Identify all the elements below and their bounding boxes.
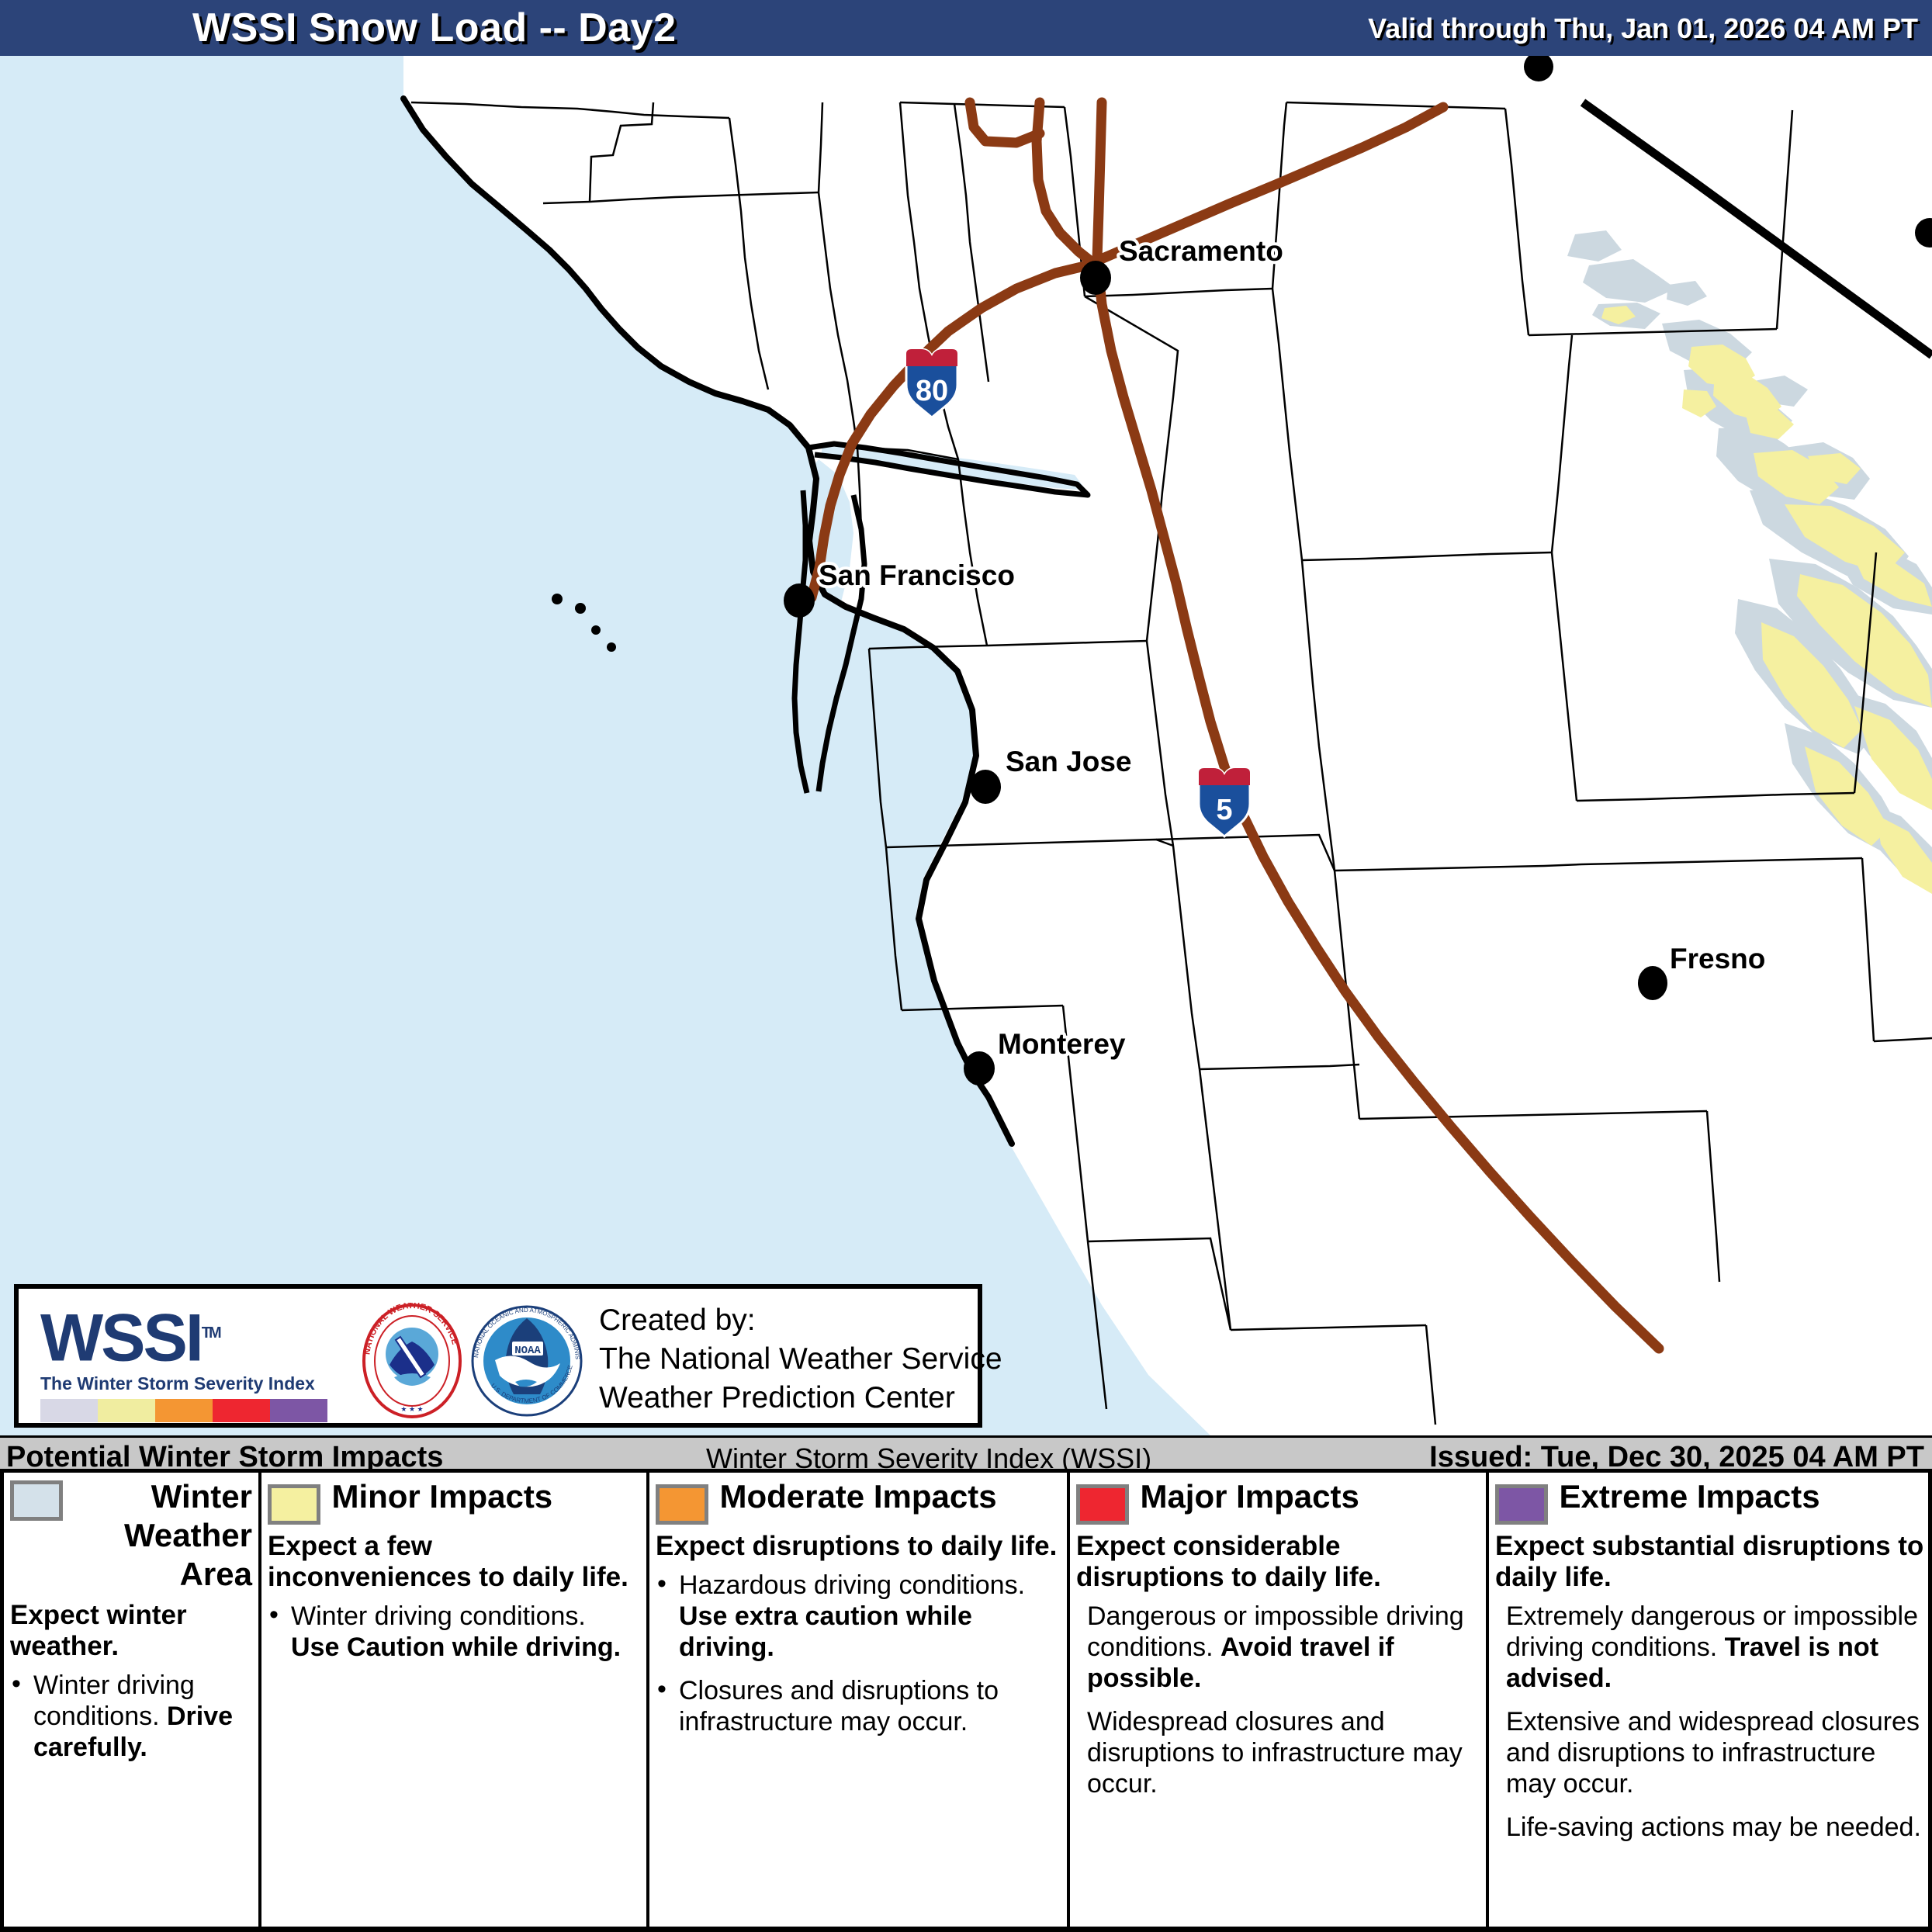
legend-swatch-extreme-impacts — [1495, 1484, 1548, 1525]
created-by-line-1: Created by: — [599, 1301, 1002, 1340]
bullet-plain: Winter driving conditions. — [291, 1601, 586, 1631]
legend-leadin-winter-weather-area: Expect winter weather. — [10, 1600, 252, 1662]
issued-timestamp: Issued: Tue, Dec 30, 2025 04 AM PT — [1429, 1441, 1924, 1474]
city-label-sacramento: Sacramento — [1119, 235, 1283, 267]
legend-column-moderate-impacts[interactable]: Moderate Impacts Expect disruptions to d… — [646, 1473, 1067, 1927]
legend-swatch-winter-weather-area — [10, 1480, 63, 1521]
bullet-plain: Closures and disruptions to infrastructu… — [679, 1676, 999, 1736]
list-item: •Extremely dangerous or impossible drivi… — [1495, 1601, 1930, 1694]
svg-text:5: 5 — [1216, 794, 1232, 826]
island-dot — [575, 603, 586, 614]
wssi-color-scale — [40, 1399, 327, 1422]
nws-seal-icon: ★ ★ ★ NATIONAL WEATHER SERVICE — [354, 1303, 470, 1419]
legend-swatch-moderate-impacts — [656, 1484, 708, 1525]
wssi-snow-load-map-page: WSSI Snow Load -- Day2 Valid through Thu… — [0, 0, 1932, 1932]
wssi-logo-box: WSSITM The Winter Storm Severity Index ★… — [14, 1284, 982, 1428]
legend-bullets-winter-weather-area: •Winter driving conditions. Drive carefu… — [10, 1670, 252, 1763]
scale-swatch-major — [213, 1399, 270, 1422]
bullet-plain: Hazardous driving conditions. — [679, 1570, 1025, 1600]
potential-impacts-label: Potential Winter Storm Impacts — [6, 1441, 443, 1474]
city-label-san-francisco: San Francisco — [819, 559, 1015, 591]
svg-text:80: 80 — [916, 375, 948, 407]
list-item: •Winter driving conditions. Drive carefu… — [10, 1670, 252, 1763]
created-by-block: Created by: The National Weather Service… — [599, 1301, 1002, 1418]
island-dot — [607, 642, 616, 652]
bullet-plain: Widespread closures and disruptions to i… — [1087, 1707, 1463, 1799]
scale-swatch-extreme — [270, 1399, 327, 1422]
city-label-san-jose: San Jose — [1006, 746, 1131, 777]
legend-column-winter-weather-area[interactable]: Winter Weather Area Expect winter weathe… — [4, 1473, 258, 1927]
legend-bullets-minor-impacts: •Winter driving conditions. Use Caution … — [268, 1601, 640, 1663]
wssi-subtitle: Winter Storm Severity Index (WSSI) — [706, 1442, 1151, 1475]
city-label-monterey: Monterey — [998, 1028, 1126, 1060]
created-by-line-3: Weather Prediction Center — [599, 1379, 1002, 1418]
list-item: •Life-saving actions may be needed. — [1495, 1812, 1930, 1843]
status-bar: Potential Winter Storm Impacts Winter St… — [0, 1435, 1932, 1473]
legend-leadin-moderate-impacts: Expect disruptions to daily life. — [656, 1531, 1061, 1562]
list-item: •Extensive and widespread closures and d… — [1495, 1706, 1930, 1799]
trademark-mark: TM — [202, 1324, 220, 1342]
legend-leadin-minor-impacts: Expect a few inconveniences to daily lif… — [268, 1531, 640, 1593]
legend-leadin-major-impacts: Expect considerable disruptions to daily… — [1076, 1531, 1480, 1593]
map-canvas[interactable]: Sacramento San Francisco San Jose Fresno… — [0, 56, 1932, 1435]
list-item: •Dangerous or impossible driving conditi… — [1076, 1601, 1480, 1694]
created-by-line-2: The National Weather Service — [599, 1340, 1002, 1379]
island-dot — [591, 625, 601, 635]
map-svg: Sacramento San Francisco San Jose Fresno… — [0, 56, 1932, 1435]
legend-title-minor-impacts: Minor Impacts — [331, 1478, 552, 1515]
svg-text:NOAA: NOAA — [514, 1345, 541, 1357]
scale-swatch-minor — [98, 1399, 155, 1422]
city-label-fresno: Fresno — [1670, 943, 1765, 975]
wssi-wordmark: WSSITM — [40, 1300, 343, 1372]
legend-swatch-minor-impacts — [268, 1484, 320, 1525]
scale-swatch-winter — [40, 1399, 98, 1422]
legend-title-extreme-impacts: Extreme Impacts — [1559, 1478, 1819, 1515]
list-item: •Widespread closures and disruptions to … — [1076, 1706, 1480, 1799]
bullet-plain: Life-saving actions may be needed. — [1506, 1813, 1921, 1842]
wssi-logo: WSSITM The Winter Storm Severity Index — [40, 1300, 343, 1422]
page-title: WSSI Snow Load -- Day2 — [192, 5, 677, 51]
legend-swatch-major-impacts — [1076, 1484, 1129, 1525]
legend-title-moderate-impacts: Moderate Impacts — [719, 1478, 996, 1515]
noaa-seal-icon: NOAA NATIONAL OCEANIC AND ATMOSPHERIC AD… — [469, 1303, 585, 1419]
legend-column-extreme-impacts[interactable]: Extreme Impacts Expect substantial disru… — [1486, 1473, 1932, 1927]
legend-title-major-impacts: Major Impacts — [1140, 1478, 1359, 1515]
island-dot — [552, 594, 563, 604]
wssi-tagline: The Winter Storm Severity Index — [40, 1373, 343, 1394]
scale-swatch-moderate — [155, 1399, 213, 1422]
legend-bullets-moderate-impacts: •Hazardous driving conditions. Use extra… — [656, 1570, 1061, 1737]
impact-legend: Winter Weather Area Expect winter weathe… — [0, 1473, 1932, 1932]
legend-bullets-extreme-impacts: •Extremely dangerous or impossible drivi… — [1495, 1601, 1930, 1843]
list-item: •Hazardous driving conditions. Use extra… — [656, 1570, 1061, 1663]
legend-column-major-impacts[interactable]: Major Impacts Expect considerable disrup… — [1067, 1473, 1486, 1927]
legend-leadin-extreme-impacts: Expect substantial disruptions to daily … — [1495, 1531, 1930, 1593]
legend-bullets-major-impacts: •Dangerous or impossible driving conditi… — [1076, 1601, 1480, 1799]
bullet-bold: Use Caution while driving. — [291, 1633, 621, 1662]
bullet-bold: Use extra caution while driving. — [679, 1601, 972, 1662]
list-item: •Closures and disruptions to infrastruct… — [656, 1675, 1061, 1737]
title-bar: WSSI Snow Load -- Day2 Valid through Thu… — [0, 0, 1932, 56]
legend-title-winter-weather-area: Winter Weather Area — [85, 1477, 252, 1594]
legend-column-minor-impacts[interactable]: Minor Impacts Expect a few inconvenience… — [258, 1473, 646, 1927]
svg-text:★ ★ ★: ★ ★ ★ — [400, 1405, 423, 1413]
bullet-plain: Extensive and widespread closures and di… — [1506, 1707, 1920, 1799]
list-item: •Winter driving conditions. Use Caution … — [268, 1601, 640, 1663]
valid-through-text: Valid through Thu, Jan 01, 2026 04 AM PT — [1368, 12, 1918, 45]
